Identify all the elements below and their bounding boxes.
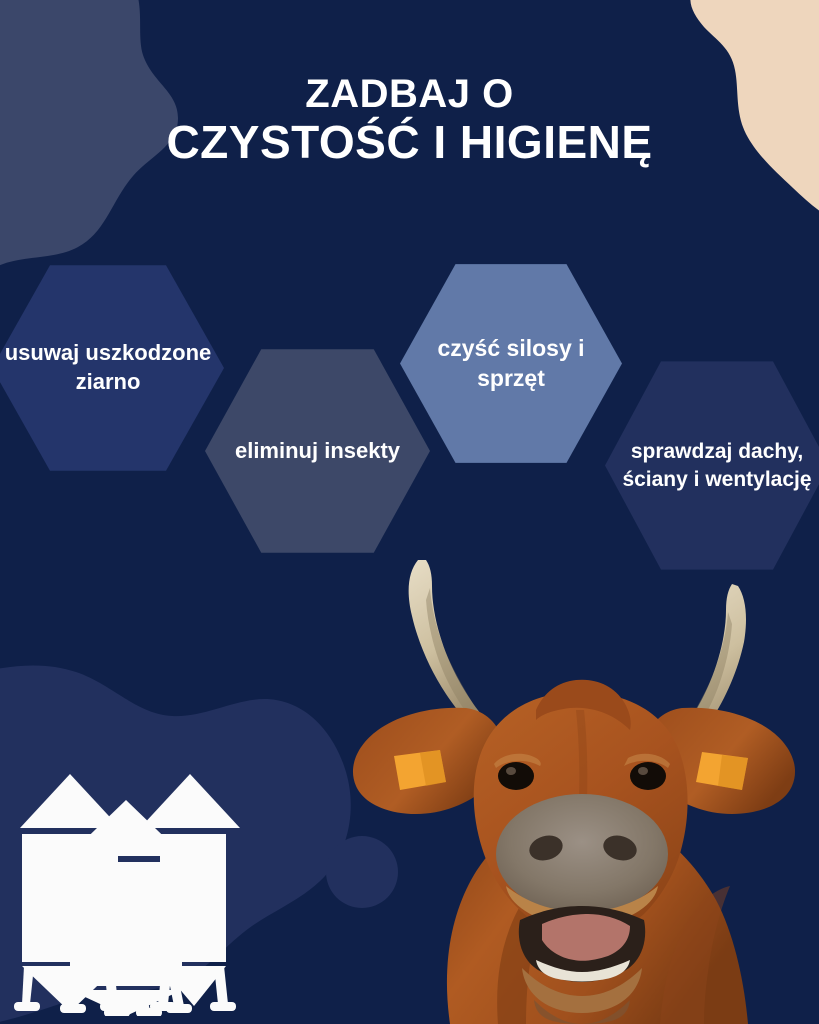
silo-left-roof [20,774,120,828]
silo-right-foot-2 [210,1002,236,1011]
cow-eye-right-highlight [638,767,648,775]
silo-center-foot-3 [104,1008,130,1016]
title-line-1: ZADBAJ O [0,72,819,117]
cow-eye-right [630,762,666,790]
silo-right-roof [140,774,240,828]
silo-center-body [70,862,182,986]
silo-center-foot-2 [166,1004,192,1013]
poster-canvas: ZADBAJ O CZYSTOŚĆ I HIGIENĘ usuwaj uszko… [0,0,819,1024]
cow-eye-left-highlight [506,767,516,775]
page-title: ZADBAJ O CZYSTOŚĆ I HIGIENĘ [0,72,819,168]
title-line-2: CZYSTOŚĆ I HIGIENĘ [0,117,819,169]
cow-muzzle [496,794,668,914]
hexagon-tip-label: usuwaj uszkodzone ziarno [0,339,224,396]
hexagon-tip-eliminate-insects[interactable]: eliminuj insekty [205,345,430,557]
hexagon-tip-label: eliminuj insekty [229,437,406,466]
hexagon-tip-clean-silos-equipment[interactable]: czyść silosy i sprzęt [400,260,622,467]
hexagon-tip-check-roofs-walls-ventilation[interactable]: sprawdzaj dachy, ściany i wentylację [605,357,819,574]
brown-cow-photo [330,548,819,1024]
silo-right-leg-2 [214,966,228,1004]
grain-silos-icon [8,716,304,1016]
silo-left-foot-1 [14,1002,40,1011]
cow-eye-left [498,762,534,790]
hexagon-tip-label: sprawdzaj dachy, ściany i wentylację [605,438,819,493]
hexagon-tip-label: czyść silosy i sprzęt [400,334,622,394]
silo-center-foot-4 [136,1008,162,1016]
silo-center-foot-1 [60,1004,86,1013]
silo-left-leg-1 [22,966,34,1004]
hexagon-tip-remove-damaged-grain[interactable]: usuwaj uszkodzone ziarno [0,261,224,475]
